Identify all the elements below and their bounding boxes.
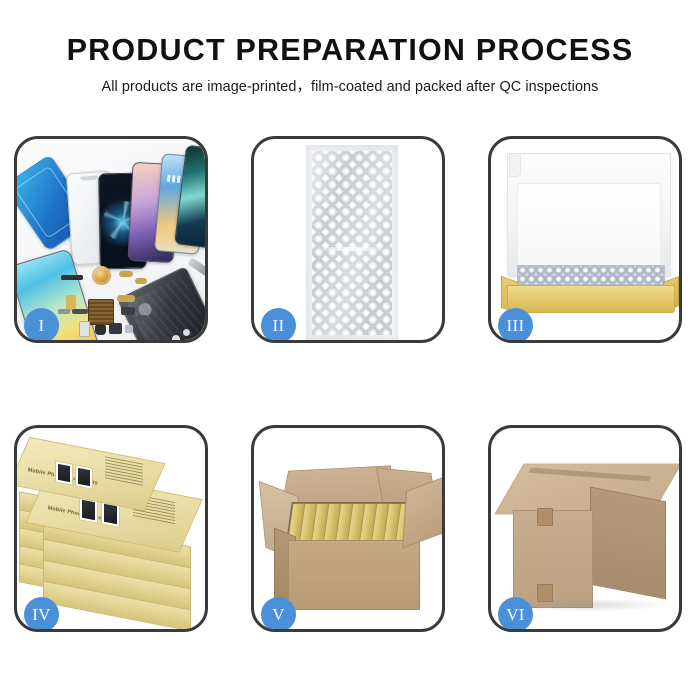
small-part (125, 325, 133, 333)
small-part (119, 271, 133, 277)
process-step-6: VI (488, 425, 682, 632)
screw-part (183, 329, 190, 336)
step-6-image (491, 428, 679, 629)
step-2-image (254, 139, 442, 340)
bubble-wrap-gloss (312, 151, 392, 335)
carton-front-face (288, 540, 420, 610)
step-3-image (491, 139, 679, 340)
small-part (109, 323, 122, 334)
sealed-carton-front-face (513, 510, 593, 608)
small-part (79, 321, 90, 337)
box-window-print (75, 464, 93, 489)
step-1-image (17, 139, 205, 340)
sealed-carton-right-face (590, 487, 666, 600)
process-step-2: II (251, 136, 445, 343)
bubble-wrap-seam (312, 247, 392, 251)
step-4-image: Mobile Phone Spare Parts Mobile Phone Sp… (17, 428, 205, 629)
copper-coil-part (92, 266, 111, 285)
small-part (137, 315, 147, 321)
process-step-grid: I II (0, 0, 700, 700)
box-window-print (55, 460, 73, 485)
small-part (121, 307, 135, 315)
inner-box-front-wall (507, 285, 675, 313)
small-part (135, 278, 147, 284)
chip-part (88, 299, 114, 325)
inner-box-tab (509, 153, 521, 177)
process-step-3: III (488, 136, 682, 343)
screw-part (172, 335, 180, 340)
inner-box-lid-face (517, 183, 661, 267)
carton-shadow (511, 600, 667, 612)
small-part (117, 295, 135, 302)
small-part (72, 309, 88, 314)
sealed-carton-tape-top (537, 508, 553, 526)
step-5-image (254, 428, 442, 629)
process-step-1: I (14, 136, 208, 343)
process-step-4: Mobile Phone Spare Parts Mobile Phone Sp… (14, 425, 208, 632)
process-step-5: V (251, 425, 445, 632)
small-part (95, 325, 106, 335)
small-part (61, 275, 83, 280)
product-preparation-infographic: PRODUCT PREPARATION PROCESS All products… (0, 0, 700, 700)
small-part (58, 309, 70, 314)
